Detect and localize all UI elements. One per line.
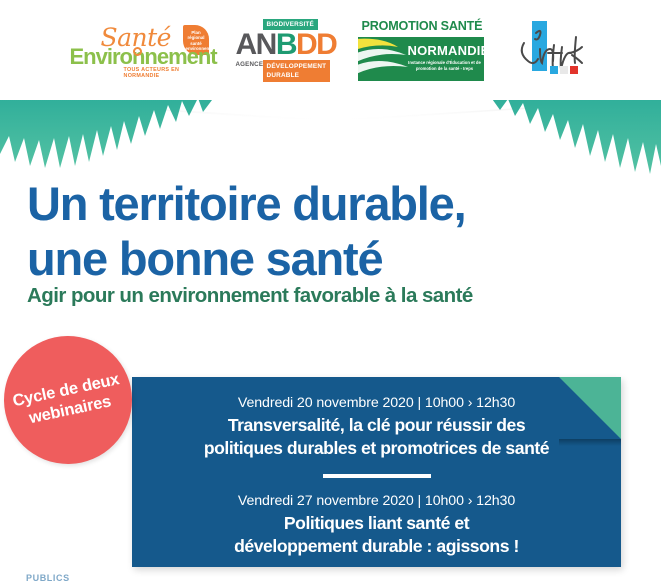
logo-sante-line3: TOUS ACTEURS EN NORMANDIE	[124, 67, 210, 79]
logo-cnfpt-square-red	[570, 66, 578, 74]
logo-sante-o-circle-icon	[133, 47, 142, 56]
page-subtitle: Agir pour un environnement favorable à l…	[27, 284, 473, 308]
webinar-title: Transversalité, la clé pour réussir des …	[132, 414, 621, 460]
webinar-list: Vendredi 20 novembre 2020 | 10h00 › 12h3…	[132, 377, 621, 558]
logo-cnfpt-square-blue	[550, 66, 558, 74]
logo-anbdd-letter-b: B	[276, 28, 296, 61]
webinar-title: Politiques liant santé et développement …	[132, 512, 621, 558]
logo-anbdd-letter-dd: DD	[296, 28, 336, 61]
webinar-date: Vendredi 27 novembre 2020 | 10h00 › 12h3…	[132, 491, 621, 511]
logo-promotion-sante-normandie: PROMOTION SANTÉ NORMANDIE Instance régio…	[358, 19, 484, 81]
page-title-line2: une bonne santé	[27, 231, 637, 286]
partner-logos-strip: Santé Plan régional santé environnement …	[0, 0, 661, 100]
logo-psn-top: PROMOTION SANTÉ	[362, 19, 483, 33]
logo-anbdd-developpement: DÉVELOPPEMENT	[267, 62, 327, 71]
webinar-divider	[323, 474, 431, 478]
page-title-line1: Un territoire durable,	[27, 176, 637, 231]
webinar-title-line2: développement durable : agissons !	[132, 535, 621, 558]
logo-psn-normandie: NORMANDIE	[408, 43, 484, 58]
logo-anbdd-dev-durable: DÉVELOPPEMENT DURABLE	[263, 60, 331, 82]
logo-anbdd-letter-n: N	[256, 28, 276, 61]
page-title: Un territoire durable, une bonne santé	[27, 176, 637, 286]
logo-anbdd-durable: DURABLE	[267, 71, 327, 80]
logo-psn-subtitle: Instance régionale d'Éducation et de pro…	[408, 60, 482, 71]
webinar-title-line1: Politiques liant santé et	[132, 512, 621, 535]
cycle-badge: Cycle de deux webinaires	[0, 324, 144, 476]
webinar-item[interactable]: Vendredi 20 novembre 2020 | 10h00 › 12h3…	[132, 393, 621, 460]
logo-cnfpt-square-white	[560, 66, 568, 74]
cycle-badge-label: Cycle de deux webinaires	[1, 367, 135, 433]
webinar-panel: Vendredi 20 novembre 2020 | 10h00 › 12h3…	[132, 377, 621, 567]
webinar-item[interactable]: Vendredi 27 novembre 2020 | 10h00 › 12h3…	[132, 491, 621, 558]
webinar-date: Vendredi 20 novembre 2020 | 10h00 › 12h3…	[132, 393, 621, 413]
logo-cnfpt	[510, 19, 592, 81]
webinar-title-line1: Transversalité, la clé pour réussir des	[132, 414, 621, 437]
webinar-title-line2: politiques durables et promotrices de sa…	[132, 437, 621, 460]
logo-psn-box: NORMANDIE Instance régionale d'Éducation…	[358, 37, 484, 81]
logo-anbdd-letter-a: A	[236, 28, 256, 61]
logo-sante-environnement: Santé Plan régional santé environnement …	[70, 24, 210, 76]
logo-anbdd: BIODIVERSITÉ ANBDD AGENCE NORMANDE DÉVEL…	[236, 19, 332, 81]
logo-psn-swoosh-icon	[358, 37, 410, 81]
foliage-banner-decoration	[0, 96, 661, 186]
logo-anbdd-acronym: ANBDD	[236, 30, 337, 60]
footer-cut-text: PUBLICS	[26, 573, 70, 582]
